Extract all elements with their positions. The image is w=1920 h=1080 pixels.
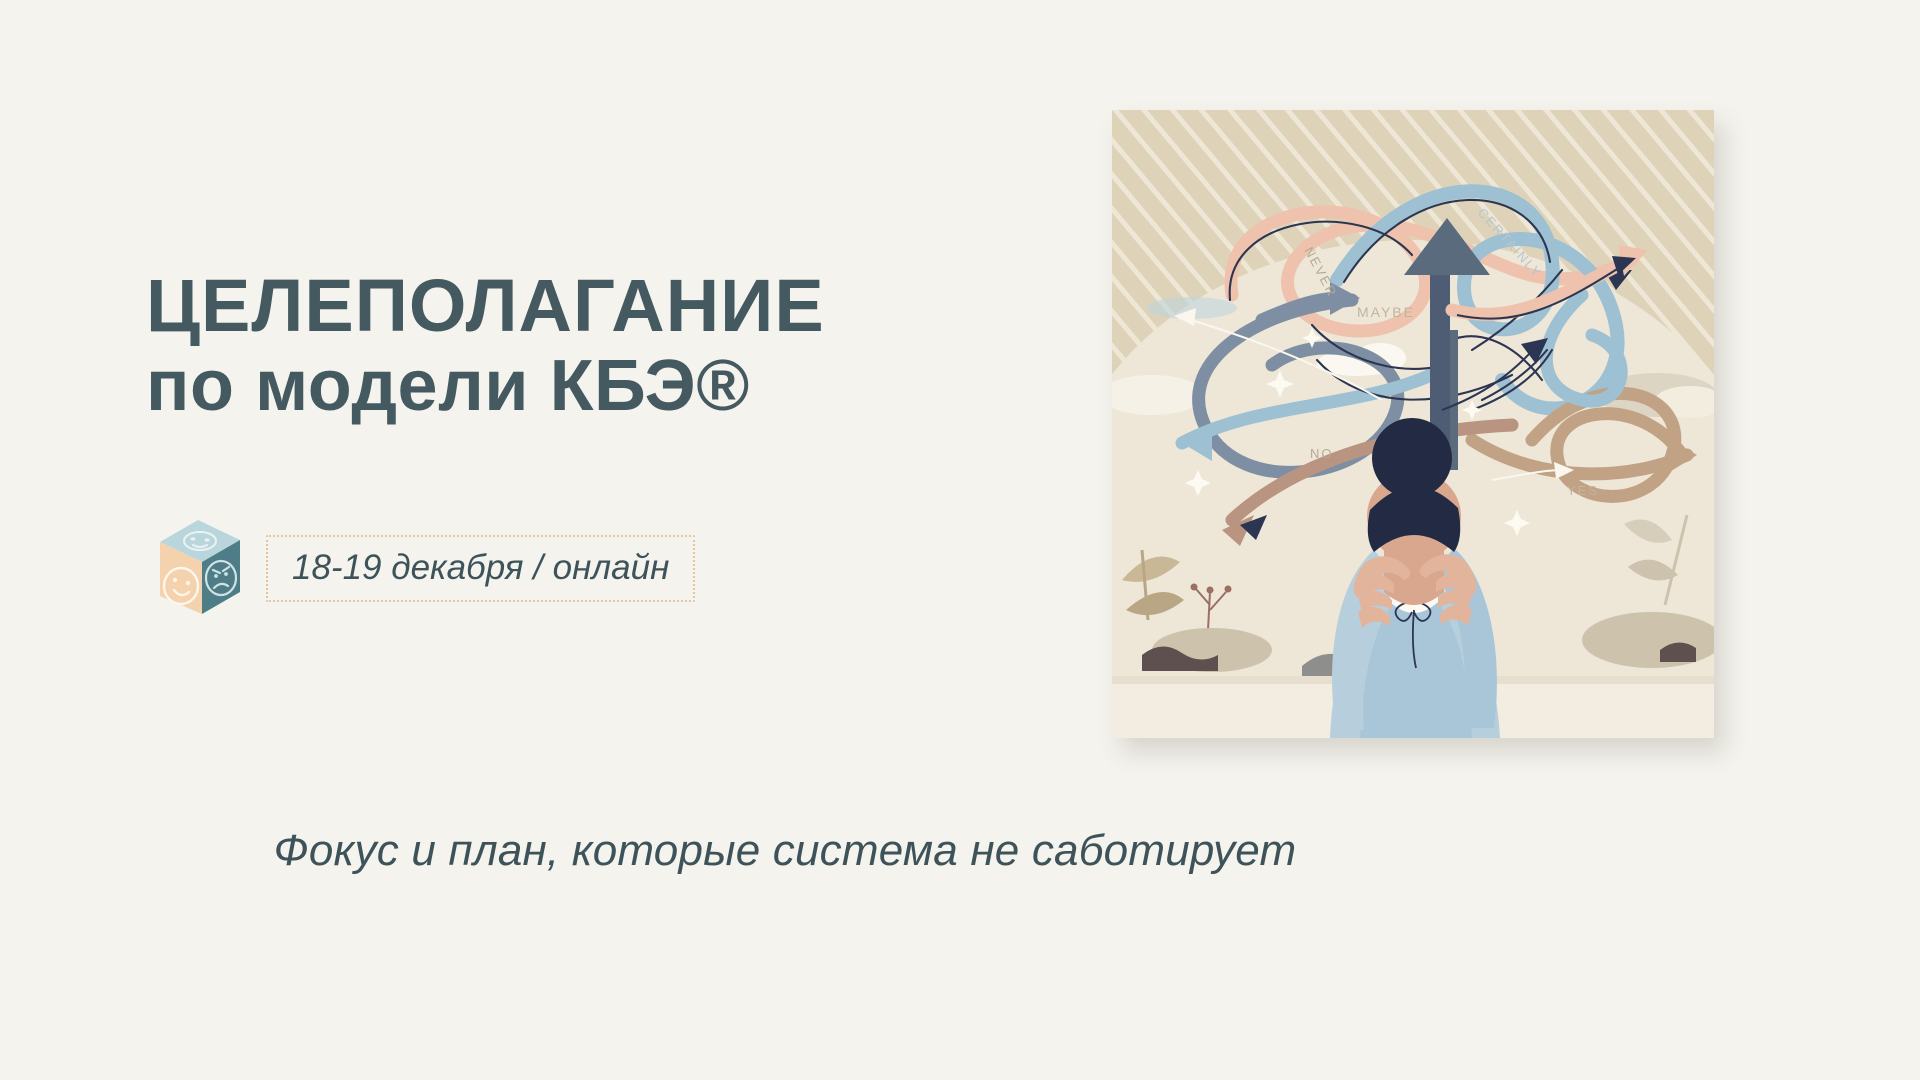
date-badge: 18-19 декабря / онлайн: [266, 535, 695, 602]
hero-text-block: ЦЕЛЕПОЛАГАНИЕ по модели КБЭ®: [146, 268, 976, 424]
hero-illustration: NEVER MAYBE CERTAINLY NO YES: [1112, 110, 1714, 738]
label-no: NO: [1310, 446, 1334, 461]
page-title-line-2: по модели КБЭ®: [146, 349, 976, 424]
label-maybe: MAYBE: [1357, 304, 1415, 320]
page-title-line-1: ЦЕЛЕПОЛАГАНИЕ: [146, 268, 976, 345]
page-title: ЦЕЛЕПОЛАГАНИЕ по модели КБЭ®: [146, 268, 976, 424]
date-row: 18-19 декабря / онлайн: [150, 516, 695, 620]
label-yes: YES: [1567, 483, 1599, 498]
confused-woman-tangled-arrows-illustration: NEVER MAYBE CERTAINLY NO YES: [1112, 110, 1714, 738]
page-subtitle: Фокус и план, которые система не саботир…: [0, 826, 1570, 876]
emotion-cube-icon: [150, 516, 246, 620]
